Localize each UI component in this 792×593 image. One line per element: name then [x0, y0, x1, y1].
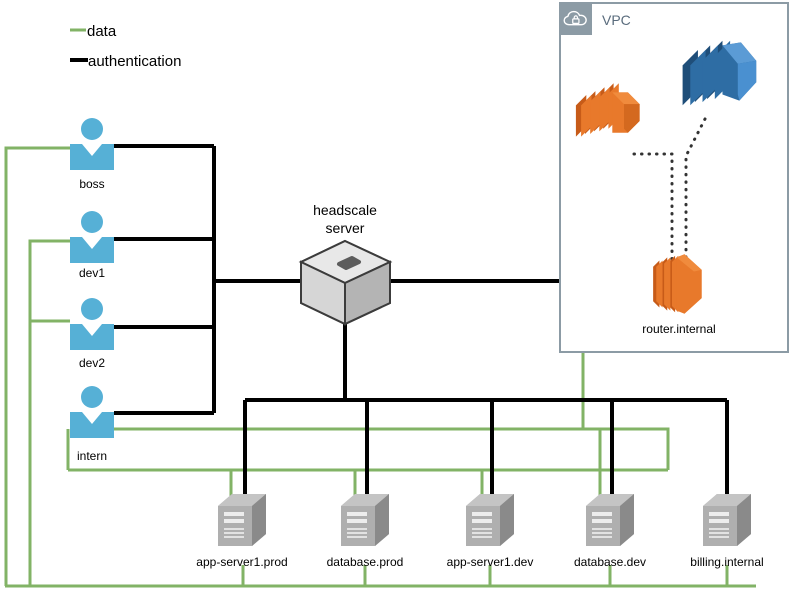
headscale-server-node[interactable]: headscale server [301, 202, 390, 324]
user-icon[interactable] [70, 118, 114, 170]
legend-item-data: data [70, 23, 117, 40]
router-label: router.internal [642, 322, 715, 336]
user-icon[interactable] [70, 298, 114, 350]
network-diagram: VPC router.internal headscale server [0, 0, 792, 593]
legend-item-authentication: authentication [70, 53, 181, 70]
data-link-boss [6, 148, 70, 586]
host-billing-internal[interactable]: billing.internal [690, 494, 763, 569]
headscale-title-line1: headscale [313, 202, 377, 218]
legend-authentication-label: authentication [88, 53, 181, 70]
host-database-prod[interactable]: database.prod [327, 494, 404, 569]
user-intern[interactable]: intern [70, 386, 114, 463]
legend-data-label: data [87, 23, 117, 40]
server-icon[interactable] [466, 494, 514, 546]
host-label: database.prod [327, 555, 404, 569]
host-database-dev[interactable]: database.dev [574, 494, 646, 569]
data-link-dev1 [30, 241, 70, 586]
user-dev1[interactable]: dev1 [70, 211, 114, 280]
server-icon[interactable] [218, 494, 266, 546]
vpc-title: VPC [602, 12, 631, 28]
server-icon[interactable] [703, 494, 751, 546]
host-app-server1-dev[interactable]: app-server1.dev [447, 494, 534, 569]
user-boss[interactable]: boss [70, 118, 114, 191]
headscale-title-line2: server [326, 220, 365, 236]
user-label: intern [77, 449, 107, 463]
user-label: boss [79, 177, 104, 191]
host-label: app-server1.prod [196, 555, 287, 569]
data-link-intern [114, 429, 600, 470]
user-icon[interactable] [70, 211, 114, 263]
user-label: dev1 [79, 266, 105, 280]
legend: data authentication [70, 23, 181, 70]
host-label: app-server1.dev [447, 555, 534, 569]
data-link-intern-2 [114, 429, 668, 470]
user-icon[interactable] [70, 386, 114, 438]
host-label: billing.internal [690, 555, 763, 569]
server-icon[interactable] [586, 494, 634, 546]
user-label: dev2 [79, 356, 105, 370]
host-app-server1-prod[interactable]: app-server1.prod [196, 494, 287, 569]
user-dev2[interactable]: dev2 [70, 298, 114, 370]
host-label: database.dev [574, 555, 646, 569]
server-icon[interactable] [341, 494, 389, 546]
diagram-canvas: VPC router.internal headscale server [0, 0, 792, 593]
